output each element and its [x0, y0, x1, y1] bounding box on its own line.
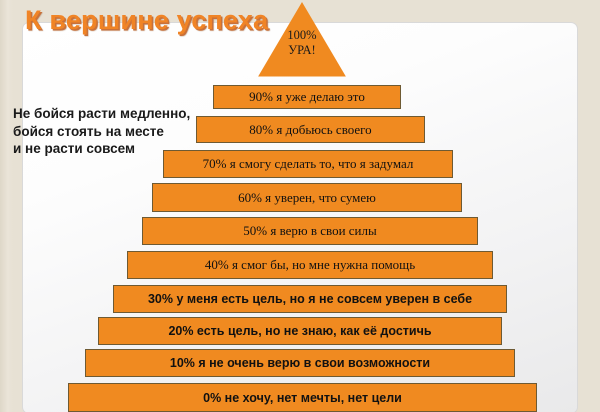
pyramid-bar-label: 50% я верю в свои силы [243, 223, 376, 239]
left-border-band [0, 0, 13, 412]
pyramid-bar-50: 50% я верю в свои силы [142, 217, 478, 245]
apex-line-2: УРА! [258, 43, 346, 58]
pyramid-bar-40: 40% я смог бы, но мне нужна помощь [127, 251, 493, 279]
slide-canvas: К вершине успеха Не бойся расти медленно… [0, 0, 600, 412]
apex-text: 100% УРА! [258, 28, 346, 58]
pyramid-bar-label: 10% я не очень верю в свои возможности [170, 356, 430, 370]
pyramid-bar-10: 10% я не очень верю в свои возможности [85, 349, 515, 377]
pyramid-bar-label: 30% у меня есть цель, но я не совсем уве… [148, 292, 472, 306]
motivational-quote: Не бойся расти медленно, бойся стоять на… [13, 105, 190, 158]
pyramid-bar-label: 0% не хочу, нет мечты, нет цели [203, 391, 402, 405]
pyramid-bar-label: 90% я уже делаю это [249, 89, 365, 105]
pyramid-bar-30: 30% у меня есть цель, но я не совсем уве… [113, 285, 507, 313]
pyramid-bar-label: 40% я смог бы, но мне нужна помощь [205, 257, 415, 273]
pyramid-bar-label: 70% я смогу сделать то, что я задумал [203, 156, 414, 172]
pyramid-bar-label: 60% я уверен, что сумею [238, 190, 376, 206]
pyramid-bar-70: 70% я смогу сделать то, что я задумал [163, 150, 453, 178]
apex-line-1: 100% [258, 28, 346, 43]
page-title: К вершине успеха [25, 5, 268, 36]
pyramid-apex-triangle: 100% УРА! [258, 2, 346, 78]
pyramid-bar-80: 80% я добьюсь своего [196, 116, 425, 143]
pyramid-bar-0: 0% не хочу, нет мечты, нет цели [68, 383, 537, 412]
pyramid-bar-60: 60% я уверен, что сумею [152, 183, 462, 212]
pyramid-bar-20: 20% есть цель, но не знаю, как её достич… [98, 317, 502, 345]
pyramid-bar-label: 80% я добьюсь своего [249, 122, 371, 138]
pyramid-bar-90: 90% я уже делаю это [213, 85, 401, 109]
pyramid-bar-label: 20% есть цель, но не знаю, как её достич… [168, 324, 431, 338]
